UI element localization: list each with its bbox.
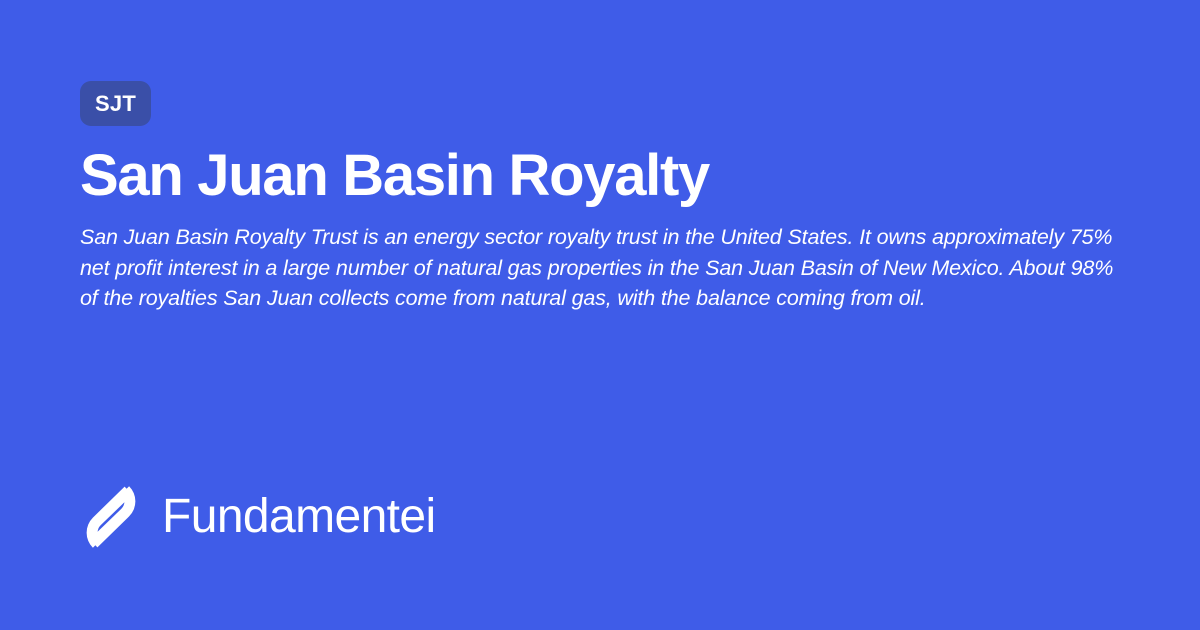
company-description: San Juan Basin Royalty Trust is an energ…	[80, 222, 1125, 313]
brand-wordmark: Fundamentei	[162, 493, 436, 541]
brand-lockup: Fundamentei	[80, 483, 436, 551]
card-content: SJT San Juan Basin Royalty San Juan Basi…	[80, 81, 1125, 314]
open-graph-card: SJT San Juan Basin Royalty San Juan Basi…	[0, 0, 1200, 630]
page-title: San Juan Basin Royalty	[80, 145, 1125, 206]
fundamentei-logo-icon	[80, 483, 142, 551]
ticker-badge: SJT	[80, 81, 151, 126]
